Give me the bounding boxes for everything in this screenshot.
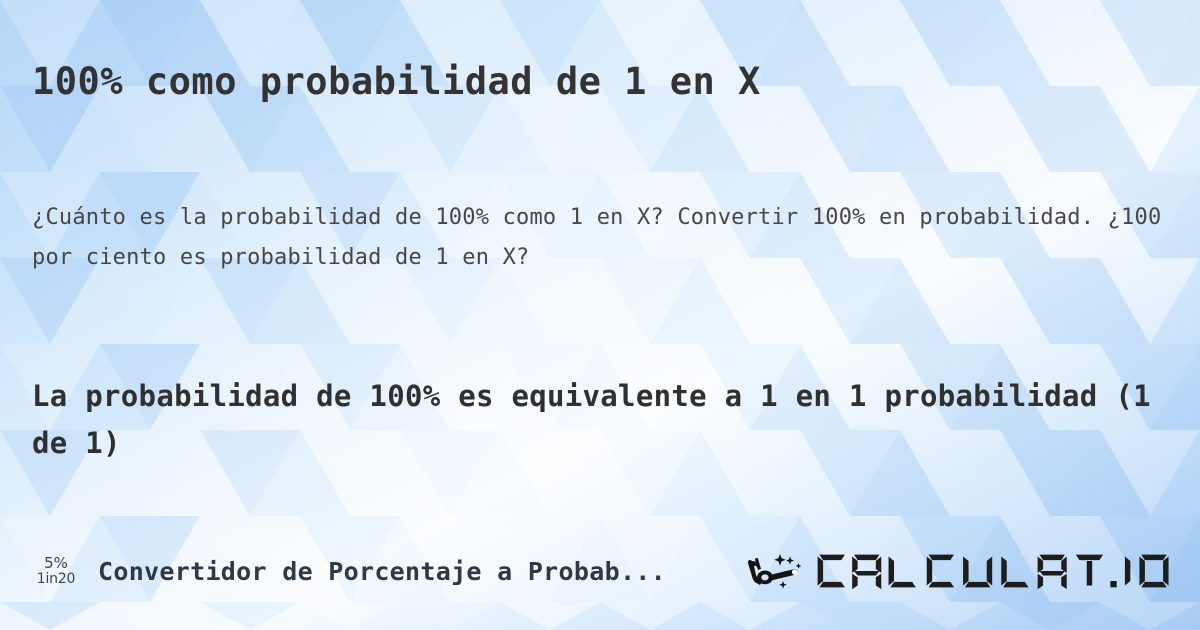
- badge-percent-label: 5%: [44, 556, 68, 572]
- brand-wordmark: CALCULAT.IO: [814, 551, 1170, 591]
- magic-wand-hand-icon: [746, 551, 808, 591]
- tool-title: Convertidor de Porcentaje a Probab...: [98, 557, 746, 586]
- badge-odds-label: 1in20: [37, 572, 76, 587]
- card-content: 100% como probabilidad de 1 en X ¿Cuánto…: [0, 0, 1200, 630]
- footer-bar: 5% 1in20 Convertidor de Porcentaje a Pro…: [0, 540, 1200, 602]
- page-title: 100% como probabilidad de 1 en X: [32, 59, 761, 105]
- share-card: 100% como probabilidad de 1 en X ¿Cuánto…: [0, 0, 1200, 630]
- intro-paragraph: ¿Cuánto es la probabilidad de 100% como …: [32, 198, 1162, 278]
- brand-logo[interactable]: CALCULAT.IO: [746, 551, 1178, 591]
- result-statement: La probabilidad de 100% es equivalente a…: [32, 373, 1172, 467]
- percent-to-odds-icon: 5% 1in20: [30, 556, 82, 586]
